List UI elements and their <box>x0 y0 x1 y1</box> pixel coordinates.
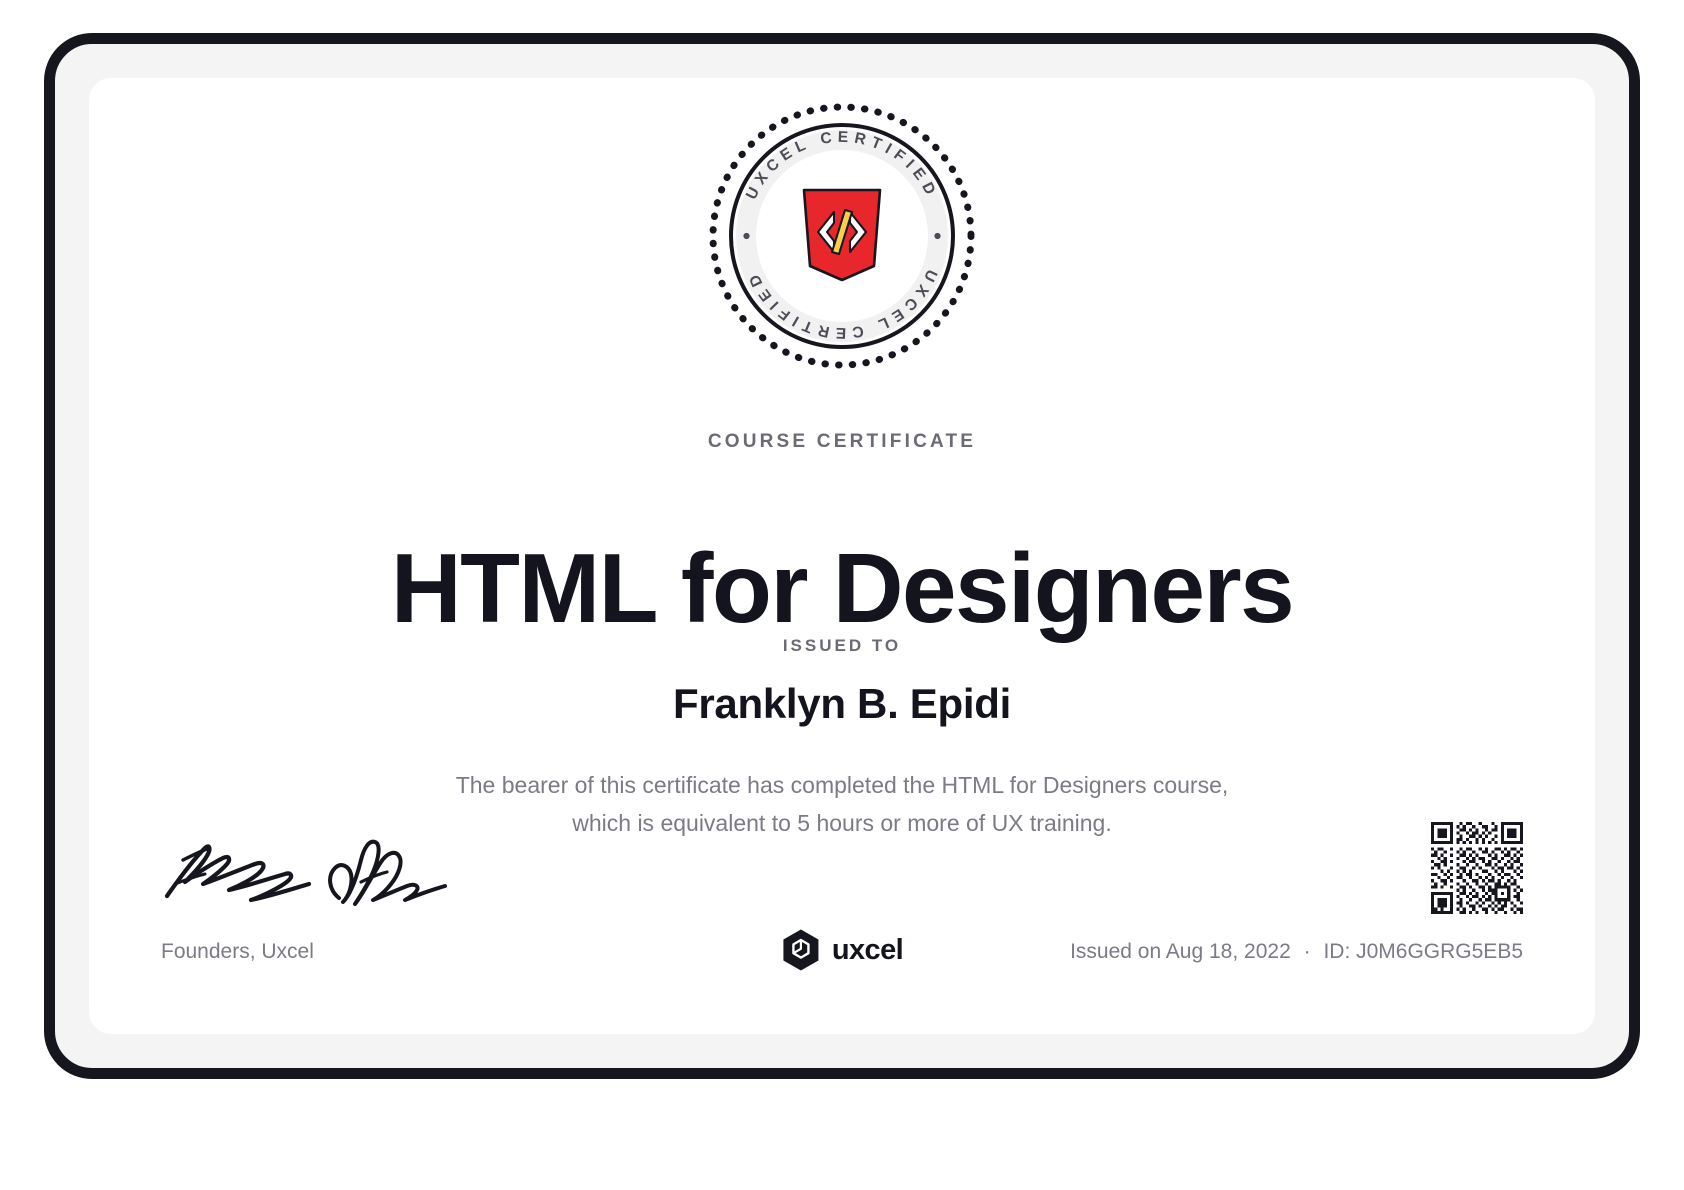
html-shield-emblem <box>804 190 880 280</box>
uxcel-certified-seal: UXCEL CERTIFIED UXCEL CERTIFIED <box>706 100 978 372</box>
uxcel-brand-logo: uxcel <box>781 928 903 972</box>
certificate-description: The bearer of this certificate has compl… <box>392 766 1292 842</box>
course-title: HTML for Designers <box>89 534 1595 642</box>
certificate-frame: UXCEL CERTIFIED UXCEL CERTIFIED <box>44 33 1640 1079</box>
recipient-name: Franklyn B. Epidi <box>89 680 1595 728</box>
brand-wordmark: uxcel <box>832 934 903 967</box>
description-line-1: The bearer of this certificate has compl… <box>392 766 1292 804</box>
founders-label: Founders, Uxcel <box>161 940 314 964</box>
uxcel-hexagon-icon <box>781 928 821 972</box>
certificate-id: ID: J0M6GGRG5EB5 <box>1323 940 1523 963</box>
certificate-page: UXCEL CERTIFIED UXCEL CERTIFIED <box>89 78 1595 1034</box>
issue-metadata: Issued on Aug 18, 2022 · ID: J0M6GGRG5EB… <box>1070 940 1523 964</box>
description-line-2: which is equivalent to 5 hours or more o… <box>392 804 1292 842</box>
issued-on-date: Issued on Aug 18, 2022 <box>1070 940 1291 963</box>
meta-separator: · <box>1297 940 1318 963</box>
course-certificate-eyebrow: COURSE CERTIFICATE <box>89 431 1595 453</box>
founder-signatures <box>159 824 479 914</box>
verification-qr-code[interactable] <box>1431 822 1523 914</box>
issued-to-eyebrow: ISSUED TO <box>89 636 1595 656</box>
